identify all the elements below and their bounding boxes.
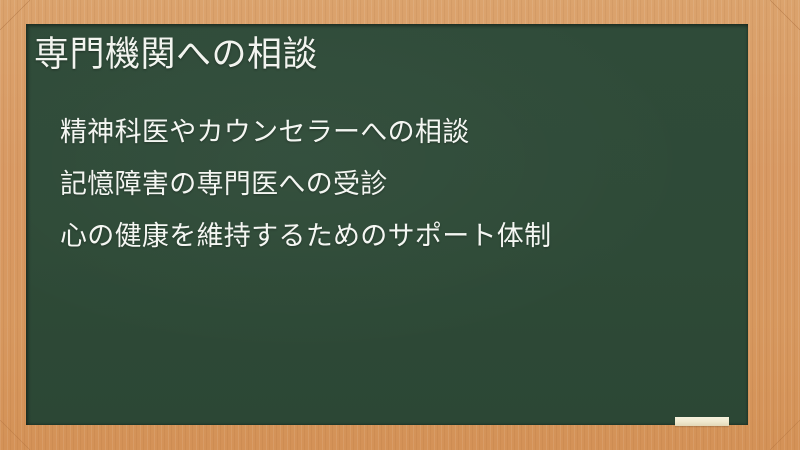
chalkboard-slide: 専門機関への相談 精神科医やカウンセラーへの相談 記憶障害の専門医への受診 心の… (0, 0, 800, 450)
page-title: 専門機関への相談 (34, 32, 318, 78)
list-item: 記憶障害の専門医への受診 (60, 158, 730, 210)
bullet-list: 精神科医やカウンセラーへの相談 記憶障害の専門医への受診 心の健康を維持するため… (60, 106, 730, 262)
list-item: 心の健康を維持するためのサポート体制 (60, 210, 730, 262)
slide-text-area: 専門機関への相談 精神科医やカウンセラーへの相談 記憶障害の専門医への受診 心の… (26, 24, 748, 425)
chalk-stick-icon (675, 417, 729, 426)
frame-mitre-bottom-right (770, 420, 800, 450)
list-item: 精神科医やカウンセラーへの相談 (60, 106, 730, 158)
frame-mitre-top-right (770, 0, 800, 30)
chalkboard-surface: 専門機関への相談 精神科医やカウンセラーへの相談 記憶障害の専門医への受診 心の… (26, 24, 748, 425)
